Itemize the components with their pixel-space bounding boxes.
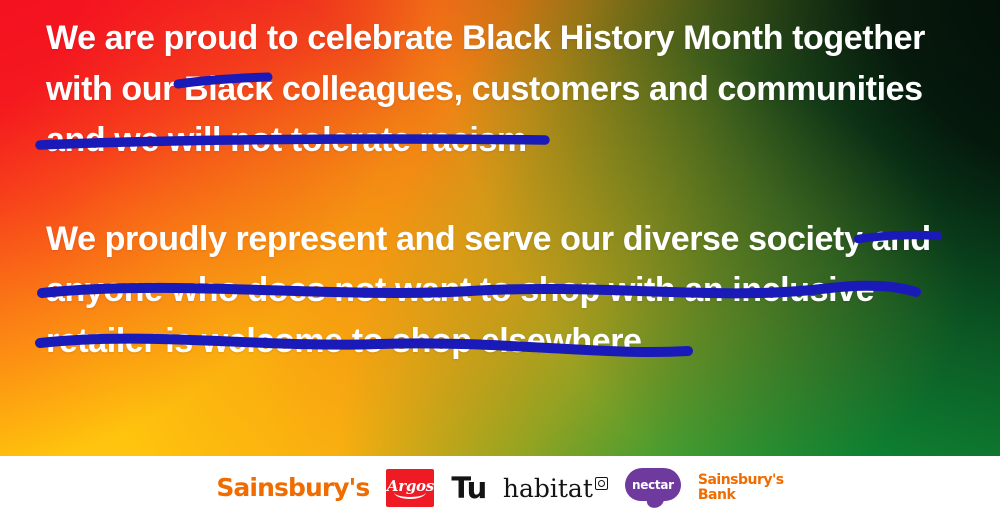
logo-nectar[interactable]: nectar (625, 468, 681, 508)
logo-tu[interactable]: Tu (451, 474, 485, 503)
nectar-blob-icon: nectar (625, 468, 681, 508)
logo-argos[interactable]: Argos (386, 469, 434, 507)
habitat-wordmark: habitat (503, 476, 593, 501)
nectar-wordmark: nectar (625, 468, 681, 501)
sainsburys-bank-line1: Sainsbury's (698, 473, 784, 488)
statement-paragraph-1: We are proud to celebrate Black History … (46, 13, 958, 166)
logo-habitat[interactable]: habitat (503, 476, 608, 501)
black-history-month-banner: We are proud to celebrate Black History … (0, 0, 1000, 520)
tu-wordmark: Tu (451, 474, 485, 503)
argos-swoosh-icon (394, 491, 426, 499)
statement-paragraph-2: We proudly represent and serve our diver… (46, 214, 958, 367)
habitat-wordmark-group: habitat (503, 476, 608, 501)
sainsburys-bank-line2: Bank (698, 488, 784, 503)
argos-red-box: Argos (386, 469, 434, 507)
banner-copy: We are proud to celebrate Black History … (0, 0, 1000, 456)
brand-footer: Sainsbury's Argos Tu habitat (0, 456, 1000, 520)
sainsburys-wordmark: Sainsbury's (216, 475, 369, 502)
logo-sainsburys-bank[interactable]: Sainsbury's Bank (698, 473, 784, 503)
logo-sainsburys[interactable]: Sainsbury's (216, 475, 369, 502)
sainsburys-bank-wordmark: Sainsbury's Bank (698, 473, 784, 503)
brand-logo-bar: Sainsbury's Argos Tu habitat (0, 456, 1000, 520)
habitat-registered-mark-icon (595, 477, 608, 490)
